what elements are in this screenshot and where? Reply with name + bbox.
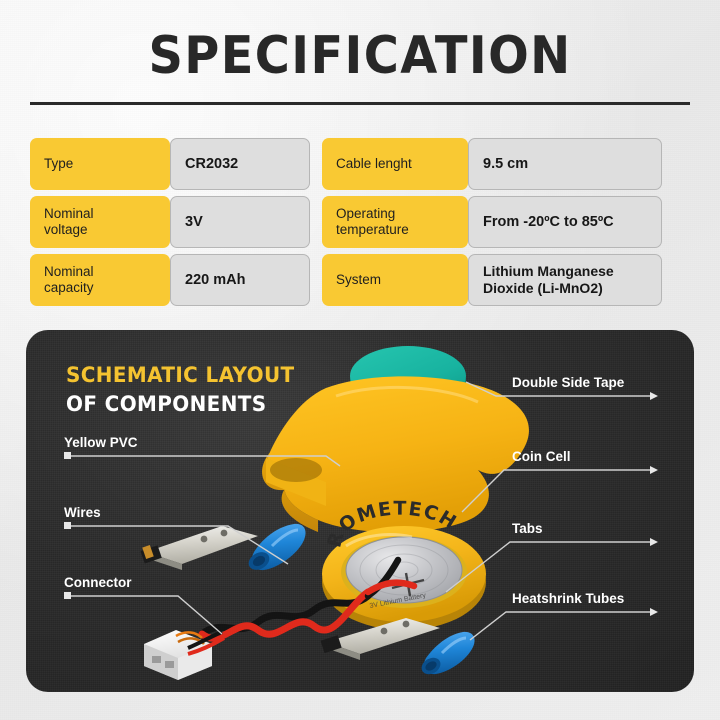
spec-value-nominal-capacity: 220 mAh bbox=[170, 254, 310, 306]
callout-wires: Wires bbox=[64, 505, 101, 521]
specification-table: Type CR2032 Cable lenght 9.5 cm Nominalv… bbox=[30, 138, 692, 310]
spec-label-system: System bbox=[322, 254, 468, 306]
spec-value-system: Lithium ManganeseDioxide (Li-MnO2) bbox=[468, 254, 662, 306]
column-gap bbox=[310, 254, 322, 306]
spec-label-type: Type bbox=[30, 138, 170, 190]
callout-tabs: Tabs bbox=[512, 521, 543, 537]
spec-value-operating-temp: From -20ºC to 85ºC bbox=[468, 196, 662, 248]
schematic-heading: SCHEMATIC LAYOUT OF COMPONENTS bbox=[66, 362, 307, 417]
callout-heatshrink-tubes: Heatshrink Tubes bbox=[512, 591, 624, 607]
callout-connector: Connector bbox=[64, 575, 132, 591]
spec-label-cable-lenght: Cable lenght bbox=[322, 138, 468, 190]
column-gap bbox=[310, 196, 322, 248]
schematic-panel: SCHEMATIC LAYOUT OF COMPONENTS bbox=[26, 330, 694, 692]
specification-infographic: SPECIFICATION Type CR2032 Cable lenght 9… bbox=[0, 0, 720, 720]
callout-double-side-tape: Double Side Tape bbox=[512, 375, 624, 391]
schematic-heading-line2: OF COMPONENTS bbox=[66, 391, 295, 417]
callout-yellow-pvc: Yellow PVC bbox=[64, 435, 138, 451]
spec-value-nominal-voltage: 3V bbox=[170, 196, 310, 248]
spec-label-operating-temp: Operatingtemperature bbox=[322, 196, 468, 248]
page-title: SPECIFICATION bbox=[29, 28, 691, 84]
schematic-heading-line1: SCHEMATIC LAYOUT bbox=[66, 362, 295, 388]
spec-value-cable-lenght: 9.5 cm bbox=[468, 138, 662, 190]
column-gap bbox=[310, 138, 322, 190]
spec-value-type: CR2032 bbox=[170, 138, 310, 190]
title-divider bbox=[30, 102, 690, 105]
spec-label-nominal-capacity: Nominalcapacity bbox=[30, 254, 170, 306]
spec-label-nominal-voltage: Nominalvoltage bbox=[30, 196, 170, 248]
callout-coin-cell: Coin Cell bbox=[512, 449, 571, 465]
